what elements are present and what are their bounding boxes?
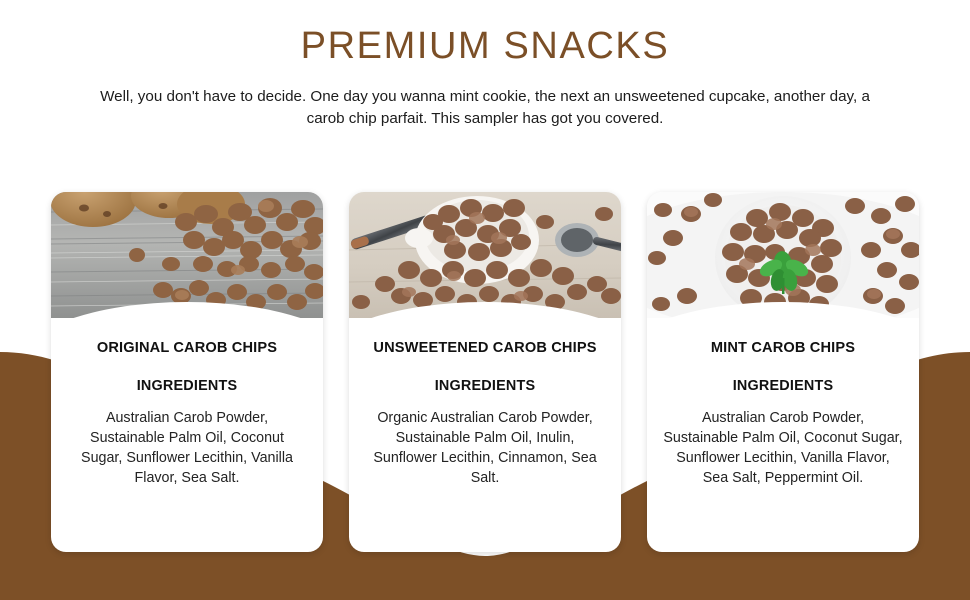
card-body: UNSWEETENED CAROB CHIPS INGREDIENTS Orga…: [349, 318, 621, 552]
product-image-unsweetened: [349, 192, 621, 318]
card-title: ORIGINAL CAROB CHIPS: [65, 340, 309, 358]
banner-subtitle: Well, you don't have to decide. One day …: [100, 86, 870, 130]
page-title: PREMIUM SNACKS: [0, 26, 970, 68]
product-card-row: ORIGINAL CAROB CHIPS INGREDIENTS Austral…: [0, 192, 970, 552]
ingredients-text: Australian Carob Powder, Sustainable Pal…: [661, 408, 905, 489]
card-body: ORIGINAL CAROB CHIPS INGREDIENTS Austral…: [51, 318, 323, 552]
product-image-original: [51, 192, 323, 318]
banner-header: PREMIUM SNACKS Well, you don't have to d…: [0, 0, 970, 130]
product-banner: PREMIUM SNACKS Well, you don't have to d…: [0, 0, 970, 600]
card-body: MINT CAROB CHIPS INGREDIENTS Australian …: [647, 318, 919, 552]
ingredients-label: INGREDIENTS: [661, 378, 905, 394]
ingredients-text: Organic Australian Carob Powder, Sustain…: [363, 408, 607, 489]
product-image-mint: [647, 192, 919, 318]
carob-chips-on-wood-photo: [51, 192, 323, 318]
carob-chips-with-mint-photo: [647, 192, 919, 318]
card-title: UNSWEETENED CAROB CHIPS: [363, 340, 607, 358]
product-card-original[interactable]: ORIGINAL CAROB CHIPS INGREDIENTS Austral…: [51, 192, 323, 552]
product-card-mint[interactable]: MINT CAROB CHIPS INGREDIENTS Australian …: [647, 192, 919, 552]
ingredients-label: INGREDIENTS: [65, 378, 309, 394]
product-card-unsweetened[interactable]: UNSWEETENED CAROB CHIPS INGREDIENTS Orga…: [349, 192, 621, 552]
ingredients-text: Australian Carob Powder, Sustainable Pal…: [65, 408, 309, 489]
carob-chips-in-bowl-with-spoons-photo: [349, 192, 621, 318]
card-title: MINT CAROB CHIPS: [661, 340, 905, 358]
ingredients-label: INGREDIENTS: [363, 378, 607, 394]
